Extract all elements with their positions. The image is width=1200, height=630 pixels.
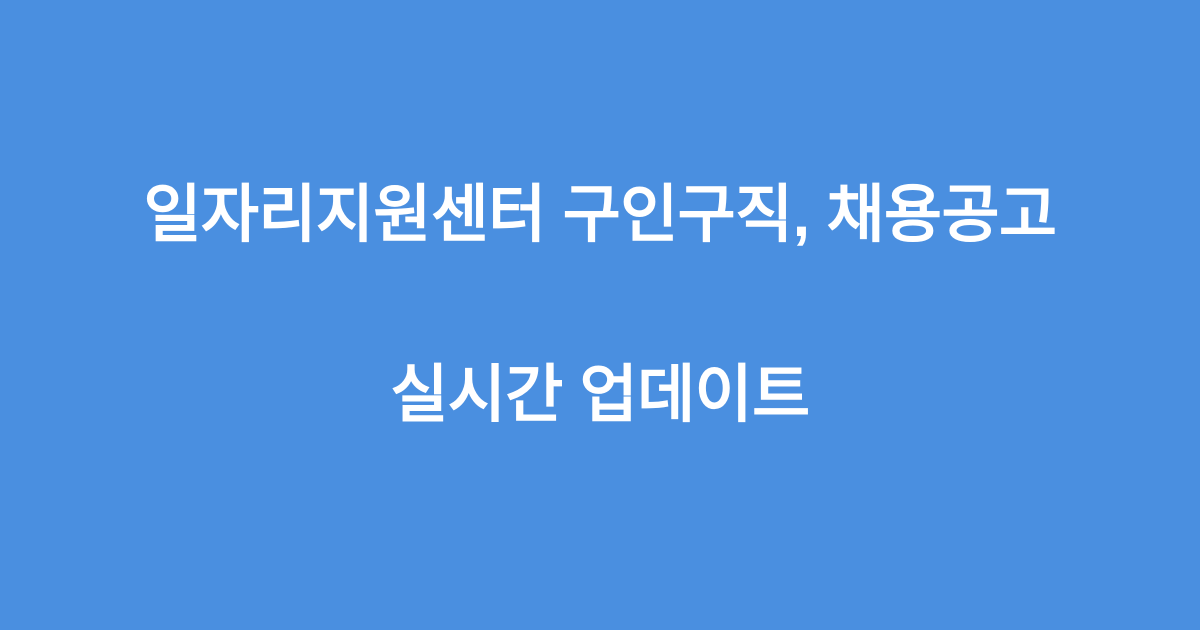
headline-block: 일자리지원센터 구인구직, 채용공고 실시간 업데이트 (85, 80, 1115, 530)
page-title: 일자리지원센터 구인구직, 채용공고 실시간 업데이트 (85, 80, 1115, 530)
headline-line-2: 실시간 업데이트 (85, 350, 1115, 440)
social-share-card: 일자리지원센터 구인구직, 채용공고 실시간 업데이트 (0, 0, 1200, 630)
headline-line-1: 일자리지원센터 구인구직, 채용공고 (85, 170, 1115, 260)
